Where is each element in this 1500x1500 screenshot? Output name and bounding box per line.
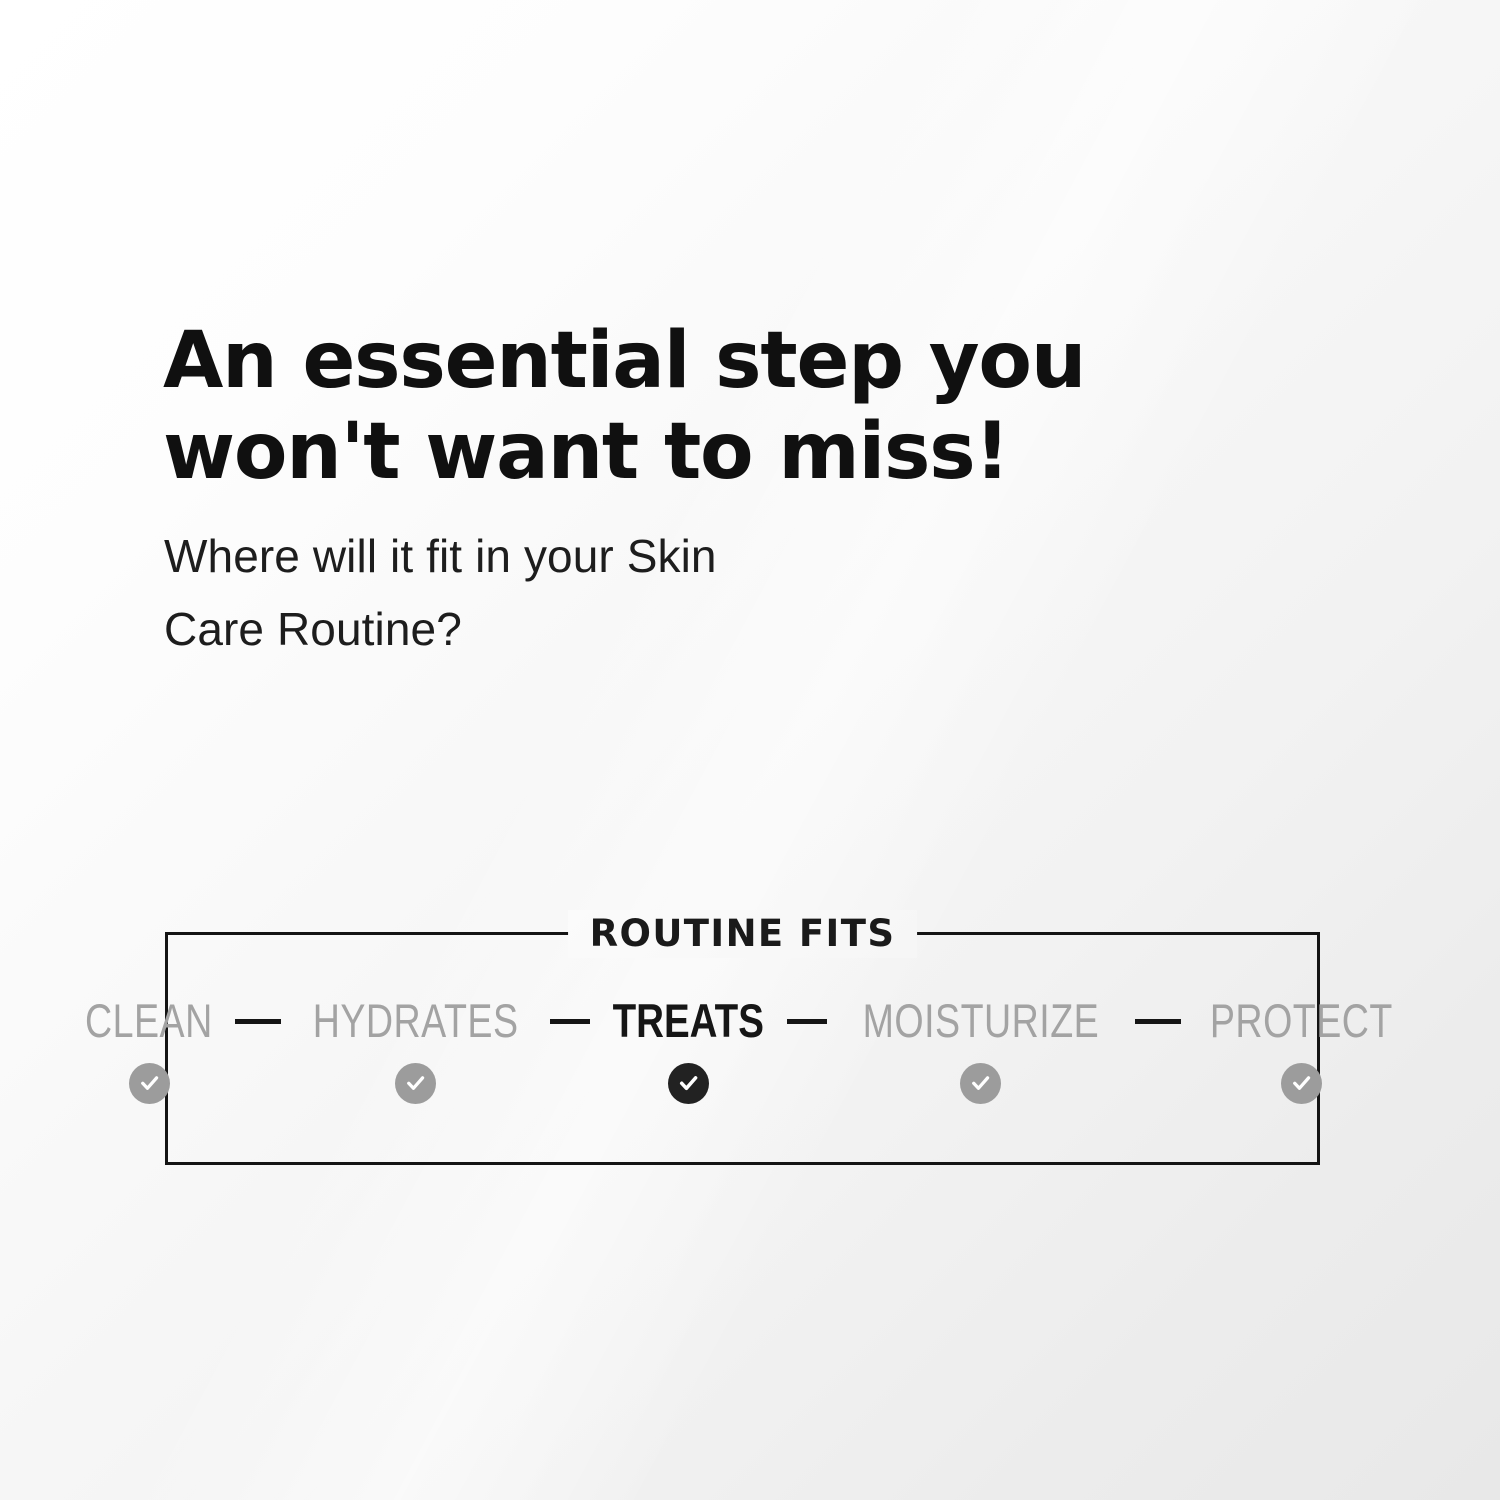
check-circle-icon bbox=[668, 1063, 709, 1104]
routine-step-clean[interactable]: CLEAN bbox=[69, 997, 229, 1104]
routine-step-separator bbox=[235, 1019, 281, 1024]
routine-steps-row: CLEAN HYDRATES TRE bbox=[168, 997, 1317, 1104]
page-title: An essential step you won't want to miss… bbox=[163, 316, 1163, 498]
routine-step-label: MOISTURIZE bbox=[863, 997, 1100, 1045]
check-circle-icon bbox=[1281, 1063, 1322, 1104]
check-circle-icon bbox=[395, 1063, 436, 1104]
routine-step-separator bbox=[787, 1019, 827, 1024]
routine-step-separator bbox=[1135, 1019, 1181, 1024]
routine-step-protect[interactable]: PROTECT bbox=[1187, 997, 1416, 1104]
check-circle-icon bbox=[960, 1063, 1001, 1104]
routine-step-separator bbox=[550, 1019, 590, 1024]
subtitle-line-2: Care Routine? bbox=[164, 593, 944, 666]
routine-step-label: HYDRATES bbox=[313, 997, 519, 1045]
routine-fits-legend: ROUTINE FITS bbox=[568, 910, 918, 958]
promo-graphic: An essential step you won't want to miss… bbox=[0, 0, 1500, 1500]
routine-step-hydrates[interactable]: HYDRATES bbox=[287, 997, 544, 1104]
routine-fits-panel: ROUTINE FITS CLEAN HYDRATES bbox=[165, 932, 1320, 1165]
routine-step-label: TREATS bbox=[613, 997, 764, 1045]
routine-step-treats[interactable]: TREATS bbox=[596, 997, 781, 1104]
subtitle-line-1: Where will it fit in your Skin bbox=[164, 530, 717, 582]
headline-line-1: An essential step you bbox=[163, 316, 1085, 406]
routine-step-moisturize[interactable]: MOISTURIZE bbox=[833, 997, 1129, 1104]
routine-step-label: CLEAN bbox=[85, 997, 213, 1045]
routine-step-label: PROTECT bbox=[1210, 997, 1393, 1045]
headline-line-2: won't want to miss! bbox=[163, 407, 1163, 498]
page-subtitle: Where will it fit in your Skin Care Rout… bbox=[164, 520, 944, 666]
check-circle-icon bbox=[129, 1063, 170, 1104]
